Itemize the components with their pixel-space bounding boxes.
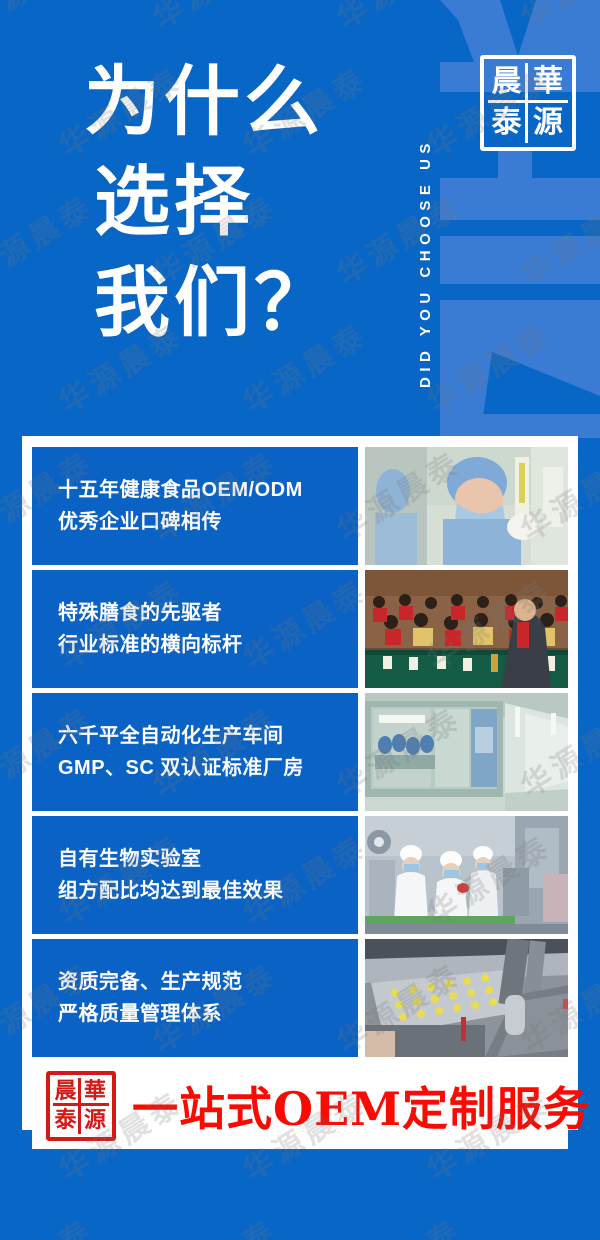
- seal-char-3: 泰: [488, 103, 528, 143]
- feature-card[interactable]: 十五年健康食品OEM/ODM 优秀企业口碑相传: [32, 447, 568, 565]
- watermark-text: 华源晨泰: [511, 1206, 600, 1240]
- feature-line-2: 行业标准的横向标杆: [58, 629, 358, 661]
- seal-char-2: 華: [528, 63, 568, 103]
- feature-card[interactable]: 资质完备、生产规范 严格质量管理体系: [32, 939, 568, 1057]
- feature-line-1: 资质完备、生产规范: [58, 966, 358, 998]
- photo-cleanroom-corridor: [365, 693, 568, 811]
- photo-svg: [365, 447, 568, 565]
- photo-svg: [365, 570, 568, 688]
- title-line-1: 为什么: [84, 52, 384, 152]
- bottom-banner[interactable]: 晨 華 泰 源 一站式OEM定制服务: [32, 1063, 568, 1149]
- title-line-2: 选择: [84, 152, 384, 252]
- feature-card-list: 十五年健康食品OEM/ODM 优秀企业口碑相传: [32, 447, 568, 1057]
- photo-workers-production-line: [365, 816, 568, 934]
- title-line-3: 我们？: [84, 253, 384, 353]
- banner-headline: 一站式OEM定制服务: [132, 1073, 590, 1139]
- feature-card-text: 特殊膳食的先驱者 行业标准的横向标杆: [32, 570, 358, 688]
- photo-svg: [365, 693, 568, 811]
- feature-card-text: 十五年健康食品OEM/ODM 优秀企业口碑相传: [32, 447, 358, 565]
- seal-char-3: 泰: [53, 1106, 81, 1134]
- feature-line-1: 特殊膳食的先驱者: [58, 597, 358, 629]
- feature-line-2: 严格质量管理体系: [58, 998, 358, 1030]
- watermark-text: 华源晨泰: [327, 1206, 469, 1240]
- photo-conference-audience: [365, 570, 568, 688]
- feature-line-2: 组方配比均达到最佳效果: [58, 875, 358, 907]
- brand-seal-header: 晨 華 泰 源: [480, 55, 576, 151]
- seal-char-4: 源: [81, 1106, 109, 1134]
- content-panel: 十五年健康食品OEM/ODM 优秀企业口碑相传: [22, 436, 578, 1130]
- feature-line-1: 十五年健康食品OEM/ODM: [58, 474, 358, 506]
- photo-svg: [365, 816, 568, 934]
- feature-line-2: GMP、SC 双认证标准厂房: [58, 752, 358, 784]
- feature-card-text: 自有生物实验室 组方配比均达到最佳效果: [32, 816, 358, 934]
- feature-card[interactable]: 六千平全自动化生产车间 GMP、SC 双认证标准厂房: [32, 693, 568, 811]
- header-section: 为什么 选择 我们？ DID YOU CHOOSE US 晨 華 泰 源: [0, 0, 600, 438]
- seal-frame: 晨 華 泰 源: [46, 1071, 116, 1141]
- brand-seal-bottom: 晨 華 泰 源: [46, 1071, 116, 1141]
- feature-line-2: 优秀企业口碑相传: [58, 506, 358, 538]
- photo-lab-technician-pipetting: [365, 447, 568, 565]
- feature-line-1: 自有生物实验室: [58, 843, 358, 875]
- feature-card-text: 资质完备、生产规范 严格质量管理体系: [32, 939, 358, 1057]
- vertical-caption: DID YOU CHOOSE US: [400, 18, 434, 388]
- seal-char-1: 晨: [488, 63, 528, 103]
- watermark-text: 华源晨泰: [0, 1206, 101, 1240]
- feature-card-text: 六千平全自动化生产车间 GMP、SC 双认证标准厂房: [32, 693, 358, 811]
- seal-char-2: 華: [81, 1078, 109, 1106]
- seal-frame: 晨 華 泰 源: [480, 55, 576, 151]
- watermark-text: 华源晨泰: [143, 1206, 285, 1240]
- photo-tablet-packaging-machine: [365, 939, 568, 1057]
- page-title: 为什么 选择 我们？: [84, 52, 384, 353]
- feature-line-1: 六千平全自动化生产车间: [58, 720, 358, 752]
- feature-card[interactable]: 自有生物实验室 组方配比均达到最佳效果: [32, 816, 568, 934]
- feature-card[interactable]: 特殊膳食的先驱者 行业标准的横向标杆: [32, 570, 568, 688]
- seal-char-1: 晨: [53, 1078, 81, 1106]
- photo-svg: [365, 939, 568, 1057]
- seal-char-4: 源: [528, 103, 568, 143]
